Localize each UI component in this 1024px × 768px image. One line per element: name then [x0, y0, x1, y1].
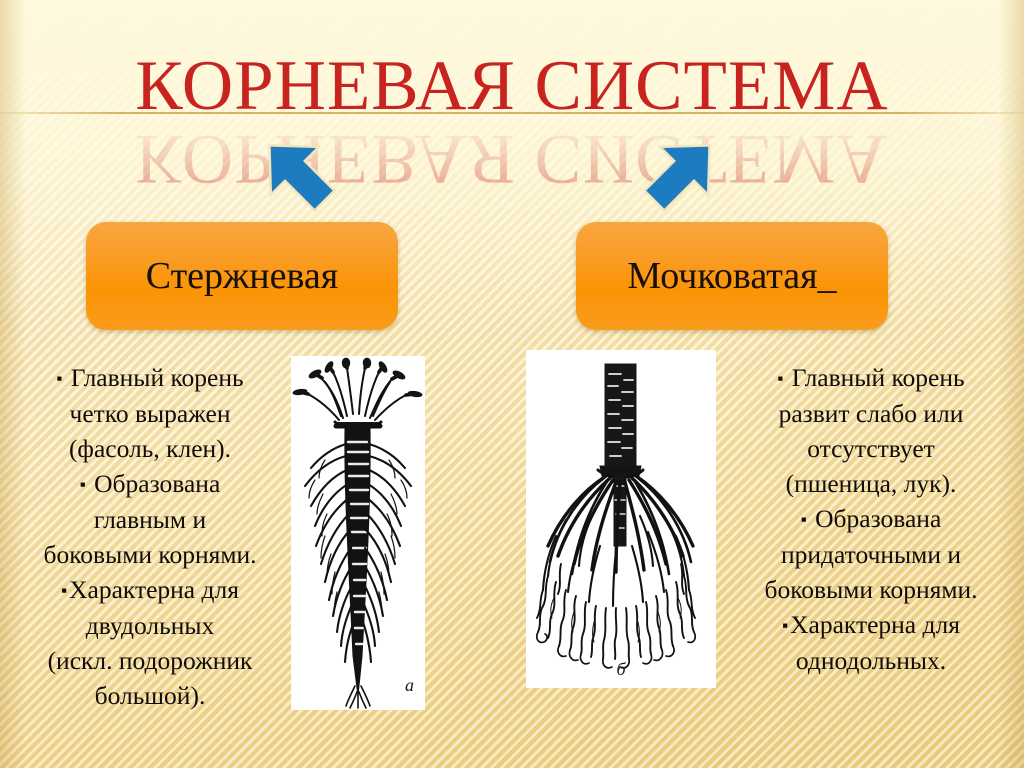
list-item: ▪Характерна для — [16, 572, 284, 608]
page-title: КОРНЕВАЯ СИСТЕМА — [0, 50, 1024, 122]
category-label-taproot-text: Стержневая — [146, 257, 339, 295]
text-line: Главный корень — [71, 363, 244, 392]
text-line-wrap: (пшеница, лук). — [730, 466, 1012, 501]
square-bullet-icon: ▪ — [61, 581, 69, 600]
text-line: боковыми корнями. — [764, 575, 977, 604]
taproot-system-engraving — [291, 356, 425, 710]
text-line: боковыми корнями. — [43, 540, 256, 569]
text-line: (пшеница, лук). — [786, 469, 957, 498]
text-line: Образована — [815, 504, 941, 533]
arrow-down-left-icon — [247, 132, 347, 214]
text-line: (фасоль, клен). — [69, 434, 231, 463]
text-line-wrap: отсутствует — [730, 431, 1012, 466]
text-line: развит слабо или — [779, 399, 964, 428]
fibrous-root-system-engraving — [526, 350, 716, 688]
text-line: Образована — [94, 469, 220, 498]
taproot-figure-panel: а — [291, 356, 425, 710]
square-bullet-icon: ▪ — [56, 369, 64, 388]
arrow-down-right-icon — [632, 132, 732, 214]
text-line-wrap: двудольных — [16, 608, 284, 643]
square-bullet-icon: ▪ — [777, 369, 785, 388]
fibrous-description-column: ▪ Главный корень развит слабо или отсутс… — [730, 360, 1012, 678]
text-line: главным и — [94, 505, 206, 534]
list-item: ▪ Главный корень — [16, 360, 284, 396]
text-line: (искл. подорожник — [48, 646, 253, 675]
taproot-description-column: ▪ Главный корень четко выражен (фасоль, … — [16, 360, 284, 713]
text-line-wrap: боковыми корнями. — [16, 537, 284, 572]
list-item: ▪ Образована — [16, 466, 284, 502]
list-item: ▪ Образована — [730, 501, 1012, 537]
text-line: придаточными и — [781, 540, 961, 569]
figure-label-a: а — [405, 675, 414, 696]
text-line: однодольных. — [796, 646, 946, 675]
text-line-wrap: (фасоль, клен). — [16, 431, 284, 466]
list-item: ▪ Главный корень — [730, 360, 1012, 396]
text-line: отсутствует — [807, 434, 935, 463]
slide-title-block: КОРНЕВАЯ СИСТЕМА КОРНЕВАЯ СИСТЕМА — [0, 50, 1024, 170]
category-label-taproot[interactable]: Стержневая — [86, 222, 398, 330]
category-label-fibrous[interactable]: Мочковатая_ — [576, 222, 888, 330]
text-line-wrap: боковыми корнями. — [730, 572, 1012, 607]
text-line: Главный корень — [792, 363, 965, 392]
square-bullet-icon: ▪ — [801, 510, 809, 529]
text-line: большой). — [95, 681, 206, 710]
text-line-wrap: однодольных. — [730, 643, 1012, 678]
text-line: четко выражен — [70, 399, 231, 428]
text-line: двудольных — [86, 611, 215, 640]
text-line: Характерна для — [69, 575, 239, 604]
figure-label-b: б — [526, 659, 716, 680]
text-line-wrap: (искл. подорожник — [16, 643, 284, 678]
text-line: Характерна для — [790, 610, 960, 639]
text-line-wrap: придаточными и — [730, 537, 1012, 572]
square-bullet-icon: ▪ — [80, 475, 88, 494]
text-line-wrap: развит слабо или — [730, 396, 1012, 431]
list-item: ▪Характерна для — [730, 607, 1012, 643]
category-label-fibrous-text: Мочковатая_ — [627, 257, 836, 295]
text-line-wrap: главным и — [16, 502, 284, 537]
square-bullet-icon: ▪ — [782, 616, 790, 635]
slide-title-reflection: КОРНЕВАЯ СИСТЕМА — [0, 123, 1024, 195]
text-line-wrap: четко выражен — [16, 396, 284, 431]
fibrous-figure-panel: б — [526, 350, 716, 688]
text-line-wrap: большой). — [16, 678, 284, 713]
